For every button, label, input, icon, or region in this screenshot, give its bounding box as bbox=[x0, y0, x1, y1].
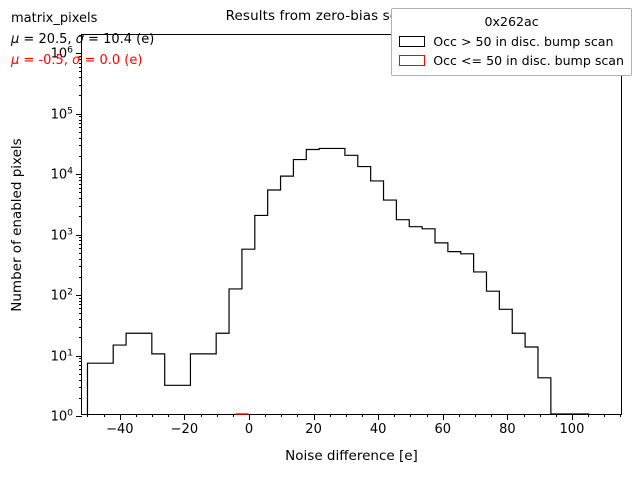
y-tick-minor bbox=[79, 304, 82, 305]
histogram-plot bbox=[82, 35, 621, 414]
figure: Results from zero-bias scan Number of en… bbox=[0, 0, 640, 480]
x-tick-minor bbox=[491, 414, 492, 417]
y-tick-label: 104 bbox=[51, 165, 73, 182]
y-tick-minor bbox=[79, 206, 82, 207]
x-tick-minor bbox=[201, 414, 202, 417]
y-tick-label: 103 bbox=[51, 226, 73, 243]
sigma-value-red: = 0.0 (e) bbox=[80, 53, 142, 68]
x-tick-minor bbox=[459, 414, 460, 417]
x-tick-major bbox=[378, 414, 379, 420]
x-tick-label: 40 bbox=[370, 422, 387, 437]
y-tick-minor bbox=[79, 177, 82, 178]
y-tick-minor bbox=[79, 266, 82, 267]
y-tick-minor bbox=[79, 120, 82, 121]
y-tick-label: 101 bbox=[51, 347, 73, 364]
y-tick-major bbox=[76, 416, 82, 417]
x-tick-major bbox=[443, 414, 444, 420]
y-tick-minor bbox=[79, 244, 82, 245]
y-tick-minor bbox=[79, 308, 82, 309]
mu-value-red: = -0.5, bbox=[19, 53, 72, 68]
x-tick-minor bbox=[394, 414, 395, 417]
y-tick-minor bbox=[79, 95, 82, 96]
x-tick-minor bbox=[604, 414, 605, 417]
x-tick-minor bbox=[217, 414, 218, 417]
x-tick-minor bbox=[346, 414, 347, 417]
y-tick-minor bbox=[79, 77, 82, 78]
y-tick-minor bbox=[79, 374, 82, 375]
y-tick-minor bbox=[79, 138, 82, 139]
x-tick-minor bbox=[427, 414, 428, 417]
x-tick-minor bbox=[136, 414, 137, 417]
annotation-line-black-stats: μ = 20.5, σ = 10.4 (e) bbox=[11, 29, 154, 50]
y-tick-major bbox=[76, 114, 82, 115]
x-tick-minor bbox=[265, 414, 266, 417]
stats-annotation: matrix_pixels μ = 20.5, σ = 10.4 (e) μ =… bbox=[11, 8, 154, 71]
x-axis-label: Noise difference [e] bbox=[81, 448, 622, 464]
x-tick-label: 100 bbox=[560, 422, 585, 437]
x-tick-label: 20 bbox=[305, 422, 322, 437]
y-tick-label: 100 bbox=[51, 407, 73, 424]
series-occ-gt-50-step bbox=[87, 148, 589, 414]
y-tick-minor bbox=[79, 71, 82, 72]
y-tick-minor bbox=[79, 298, 82, 299]
legend-swatch bbox=[399, 36, 425, 47]
x-tick-minor bbox=[233, 414, 234, 417]
sigma-value: = 10.4 (e) bbox=[84, 32, 154, 47]
y-tick-minor bbox=[79, 85, 82, 86]
y-tick-minor bbox=[79, 361, 82, 362]
x-tick-label: 0 bbox=[245, 422, 253, 437]
mu-value: = 20.5, bbox=[19, 32, 75, 47]
y-tick-major bbox=[76, 235, 82, 236]
x-tick-label: 60 bbox=[434, 422, 451, 437]
plot-area: 100101102103104105106 −40−20020406080100 bbox=[81, 34, 622, 415]
y-tick-minor bbox=[79, 369, 82, 370]
y-tick-minor bbox=[79, 116, 82, 117]
y-tick-minor bbox=[79, 337, 82, 338]
legend-entry-label: Occ > 50 in disc. bump scan bbox=[433, 34, 613, 49]
x-tick-major bbox=[572, 414, 573, 420]
y-tick-minor bbox=[79, 237, 82, 238]
y-axis-label: Number of enabled pixels bbox=[7, 34, 27, 415]
y-tick-minor bbox=[79, 398, 82, 399]
annotation-text: matrix_pixels bbox=[11, 11, 97, 26]
y-tick-minor bbox=[79, 132, 82, 133]
annotation-line-red-stats: μ = -0.5, σ = 0.0 (e) bbox=[11, 50, 154, 71]
legend-title: 0x262ac bbox=[399, 13, 624, 32]
y-axis-label-text: Number of enabled pixels bbox=[9, 138, 25, 311]
x-tick-label: −40 bbox=[106, 422, 133, 437]
x-tick-minor bbox=[330, 414, 331, 417]
y-tick-minor bbox=[79, 301, 82, 302]
x-tick-minor bbox=[281, 414, 282, 417]
y-tick-minor bbox=[79, 145, 82, 146]
x-tick-minor bbox=[87, 414, 88, 417]
x-tick-label: 80 bbox=[499, 422, 516, 437]
y-tick-minor bbox=[79, 380, 82, 381]
y-tick-minor bbox=[79, 184, 82, 185]
x-tick-minor bbox=[152, 414, 153, 417]
x-tick-label: −20 bbox=[171, 422, 198, 437]
legend-swatch bbox=[399, 55, 425, 66]
y-tick-minor bbox=[79, 358, 82, 359]
y-tick-minor bbox=[79, 216, 82, 217]
legend-entries: Occ > 50 in disc. bump scanOcc <= 50 in … bbox=[399, 32, 624, 70]
y-tick-minor bbox=[79, 253, 82, 254]
x-tick-major bbox=[120, 414, 121, 420]
legend-entry[interactable]: Occ > 50 in disc. bump scan bbox=[399, 32, 624, 51]
y-tick-minor bbox=[79, 180, 82, 181]
y-tick-minor bbox=[79, 188, 82, 189]
y-tick-minor bbox=[79, 156, 82, 157]
y-tick-minor bbox=[79, 123, 82, 124]
y-tick-major bbox=[76, 174, 82, 175]
x-tick-minor bbox=[104, 414, 105, 417]
y-tick-major bbox=[76, 356, 82, 357]
y-tick-minor bbox=[79, 387, 82, 388]
y-tick-label: 102 bbox=[51, 286, 73, 303]
x-tick-major bbox=[507, 414, 508, 420]
x-tick-minor bbox=[540, 414, 541, 417]
x-tick-major bbox=[314, 414, 315, 420]
y-tick-minor bbox=[79, 127, 82, 128]
x-tick-major bbox=[249, 414, 250, 420]
sigma-symbol: σ bbox=[76, 32, 84, 47]
y-tick-minor bbox=[79, 240, 82, 241]
y-tick-minor bbox=[79, 313, 82, 314]
y-tick-label: 105 bbox=[51, 105, 73, 122]
x-tick-minor bbox=[362, 414, 363, 417]
x-tick-minor bbox=[588, 414, 589, 417]
x-tick-minor bbox=[168, 414, 169, 417]
y-tick-minor bbox=[79, 365, 82, 366]
x-tick-minor bbox=[556, 414, 557, 417]
y-tick-major bbox=[76, 295, 82, 296]
x-tick-minor bbox=[620, 414, 621, 417]
annotation-line-matrix-pixels: matrix_pixels bbox=[11, 8, 154, 29]
x-tick-minor bbox=[475, 414, 476, 417]
legend-entry[interactable]: Occ <= 50 in disc. bump scan bbox=[399, 51, 624, 70]
y-tick-minor bbox=[79, 259, 82, 260]
legend-entry-label: Occ <= 50 in disc. bump scan bbox=[433, 53, 624, 68]
y-tick-minor bbox=[79, 319, 82, 320]
y-tick-minor bbox=[79, 277, 82, 278]
y-tick-minor bbox=[79, 248, 82, 249]
x-tick-minor bbox=[410, 414, 411, 417]
x-tick-minor bbox=[524, 414, 525, 417]
y-tick-minor bbox=[79, 198, 82, 199]
y-tick-minor bbox=[79, 192, 82, 193]
y-tick-minor bbox=[79, 327, 82, 328]
legend: 0x262ac Occ > 50 in disc. bump scanOcc <… bbox=[391, 8, 632, 76]
x-tick-minor bbox=[297, 414, 298, 417]
x-tick-major bbox=[184, 414, 185, 420]
